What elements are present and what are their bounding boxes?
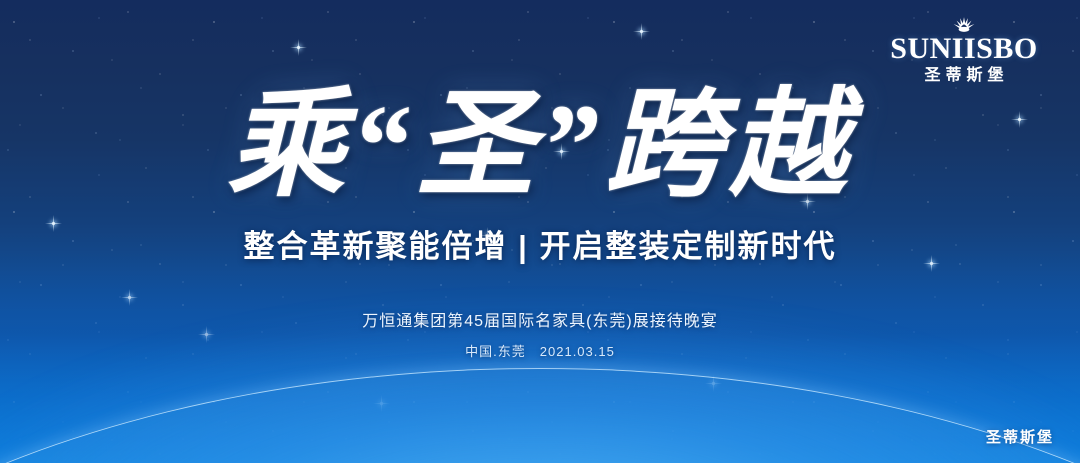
sparkle-star [380, 402, 383, 405]
headline: 乘“圣”跨越 [0, 82, 1080, 209]
horizon-arc [0, 368, 1080, 463]
sparkle-star [712, 382, 715, 385]
brand-logo: SUNIISBO 圣蒂斯堡 [876, 16, 1052, 84]
promo-banner: SUNIISBO 圣蒂斯堡 乘“圣”跨越 整合革新聚能倍增 | 开启整装定制新时… [0, 0, 1080, 463]
sparkle-star [205, 333, 208, 336]
event-meta: 中国.东莞 2021.03.15 [0, 344, 1080, 361]
sparkle-star [128, 296, 131, 299]
sparkle-star [297, 46, 300, 49]
sparkle-star [640, 30, 643, 33]
event-title: 万恒通集团第45届国际名家具(东莞)展接待晚宴 [0, 312, 1080, 333]
logo-wordmark: SUNIISBO [876, 34, 1052, 65]
lotus-sunburst-icon [949, 16, 979, 33]
footer-brand: 圣蒂斯堡 [986, 426, 1054, 447]
sparkle-star [52, 222, 55, 225]
subtitle: 整合革新聚能倍增 | 开启整装定制新时代 [0, 228, 1080, 265]
